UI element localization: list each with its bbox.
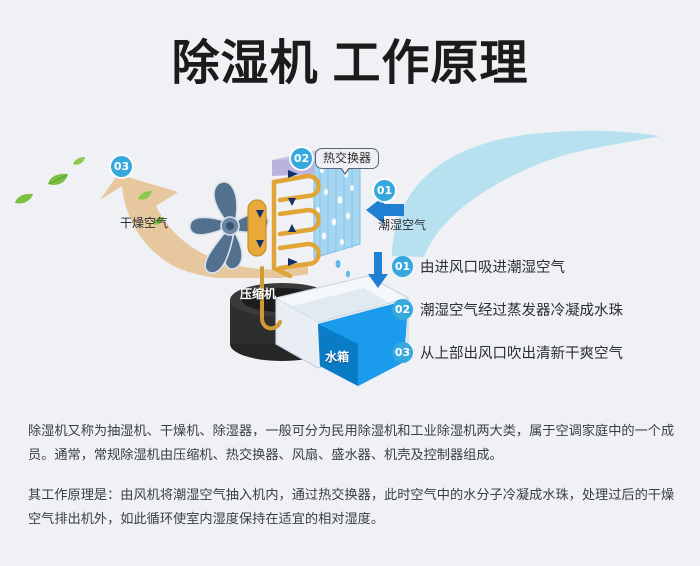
body-paragraph-1: 除湿机又称为抽湿机、干燥机、除湿器，一般可分为民用除湿机和工业除湿机两大类，属于…: [28, 420, 676, 468]
badge-01-diagram: 01: [374, 180, 395, 201]
page-title: 除湿机工作原理: [0, 34, 700, 92]
dry-air-label: 干燥空气: [120, 214, 168, 231]
step-text: 由进风口吸进潮湿空气: [420, 256, 565, 277]
humid-air-label: 潮湿空气: [378, 216, 426, 233]
leaf-icon: [46, 172, 70, 188]
badge-02-diagram: 02: [291, 148, 312, 169]
list-item: 02 潮湿空气经过蒸发器冷凝成水珠: [392, 299, 692, 320]
heat-exchanger-callout: 热交换器: [315, 148, 379, 169]
compressor-label: 压缩机: [240, 285, 276, 302]
badge-03-diagram: 03: [111, 156, 132, 177]
body-paragraph-2: 其工作原理是：由风机将潮湿空气抽入机内，通过热交换器，此时空气中的水分子冷凝成水…: [28, 484, 676, 532]
step-badge: 02: [392, 299, 413, 320]
list-item: 03 从上部出风口吹出清新干爽空气: [392, 342, 692, 363]
body-text: 除湿机又称为抽湿机、干燥机、除湿器，一般可分为民用除湿机和工业除湿机两大类，属于…: [28, 420, 676, 532]
dehumidifier-infographic-page: 除湿机工作原理: [0, 0, 700, 566]
list-item: 01 由进风口吸进潮湿空气: [392, 256, 692, 277]
step-text: 潮湿空气经过蒸发器冷凝成水珠: [420, 299, 623, 320]
leaf-icon: [14, 192, 34, 206]
leaf-icon: [72, 156, 86, 167]
water-tank-label: 水箱: [325, 348, 349, 365]
step-badge: 01: [392, 256, 413, 277]
step-badge: 03: [392, 342, 413, 363]
leaf-icon: [137, 190, 153, 202]
steps-list: 01 由进风口吸进潮湿空气 02 潮湿空气经过蒸发器冷凝成水珠 03 从上部出风…: [392, 256, 692, 385]
page-title-part2: 工作原理: [333, 34, 529, 92]
step-text: 从上部出风口吹出清新干爽空气: [420, 342, 623, 363]
page-title-part1: 除湿机: [171, 34, 318, 92]
